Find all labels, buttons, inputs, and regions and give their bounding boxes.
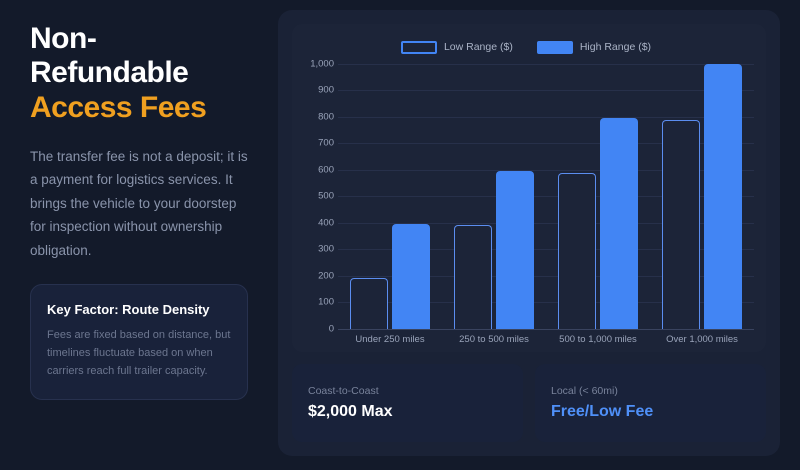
gridline: [338, 329, 754, 330]
headline-line-1: Non-: [30, 22, 96, 55]
bar-high-range[interactable]: [392, 224, 430, 329]
y-axis: 01002003004005006007008009001,000: [298, 64, 338, 329]
stat-card-value: $2,000 Max: [308, 403, 507, 421]
bar-low-range[interactable]: [454, 225, 492, 328]
stat-card-label: Coast-to-Coast: [308, 385, 507, 397]
legend-label: Low Range ($): [444, 41, 513, 53]
x-axis-tick-label: Over 1,000 miles: [650, 334, 754, 346]
stat-cards: Coast-to-Coast$2,000 MaxLocal (< 60mi)Fr…: [292, 364, 766, 442]
headline-line-2: Refundable: [30, 56, 188, 89]
y-axis-tick-label: 700: [318, 138, 334, 149]
y-axis-tick-label: 600: [318, 164, 334, 175]
plot-grid: [338, 64, 754, 329]
bar-group: [442, 64, 546, 329]
bar-chart: Low Range ($)High Range ($) 010020030040…: [292, 24, 766, 352]
right-column: Low Range ($)High Range ($) 010020030040…: [278, 0, 800, 470]
y-axis-tick-label: 800: [318, 111, 334, 122]
headline-accent: Access Fees: [30, 91, 248, 125]
x-axis-tick-label: 500 to 1,000 miles: [546, 334, 650, 346]
bar-low-range[interactable]: [350, 278, 388, 328]
bar-groups: [338, 64, 754, 329]
x-axis-tick-label: 250 to 500 miles: [442, 334, 546, 346]
chart-panel: Low Range ($)High Range ($) 010020030040…: [278, 10, 780, 456]
legend-item-high[interactable]: High Range ($): [537, 41, 651, 54]
x-axis: Under 250 miles250 to 500 miles500 to 1,…: [338, 329, 754, 346]
legend-swatch-icon: [537, 41, 573, 54]
stat-card-label: Local (< 60mi): [551, 385, 750, 397]
bar-group: [546, 64, 650, 329]
y-axis-tick-label: 100: [318, 297, 334, 308]
legend-swatch-icon: [401, 41, 437, 54]
left-column: Non- Refundable Access Fees The transfer…: [0, 0, 278, 470]
bar-high-range[interactable]: [600, 118, 638, 328]
y-axis-tick-label: 200: [318, 270, 334, 281]
plot-area: 01002003004005006007008009001,000: [298, 64, 754, 329]
intro-paragraph: The transfer fee is not a deposit; it is…: [30, 145, 248, 262]
y-axis-tick-label: 1,000: [310, 59, 334, 70]
bar-low-range[interactable]: [662, 120, 700, 329]
key-factor-title: Key Factor: Route Density: [47, 301, 231, 319]
chart-legend: Low Range ($)High Range ($): [298, 34, 754, 60]
y-axis-tick-label: 0: [329, 323, 334, 334]
page-root: Non- Refundable Access Fees The transfer…: [0, 0, 800, 470]
y-axis-tick-label: 900: [318, 85, 334, 96]
y-axis-tick-label: 300: [318, 244, 334, 255]
y-axis-tick-label: 500: [318, 191, 334, 202]
key-factor-body: Fees are fixed based on distance, but ti…: [47, 327, 231, 380]
bar-group: [650, 64, 754, 329]
bar-high-range[interactable]: [496, 171, 534, 328]
legend-item-low[interactable]: Low Range ($): [401, 41, 513, 54]
stat-card: Local (< 60mi)Free/Low Fee: [535, 364, 766, 442]
stat-card-value: Free/Low Fee: [551, 403, 750, 421]
stat-card: Coast-to-Coast$2,000 Max: [292, 364, 523, 442]
y-axis-tick-label: 400: [318, 217, 334, 228]
bar-low-range[interactable]: [558, 173, 596, 329]
page-title: Non- Refundable Access Fees: [30, 22, 248, 125]
x-axis-tick-label: Under 250 miles: [338, 334, 442, 346]
bar-high-range[interactable]: [704, 64, 742, 329]
legend-label: High Range ($): [580, 41, 651, 53]
bar-group: [338, 64, 442, 329]
key-factor-card: Key Factor: Route Density Fees are fixed…: [30, 284, 248, 399]
